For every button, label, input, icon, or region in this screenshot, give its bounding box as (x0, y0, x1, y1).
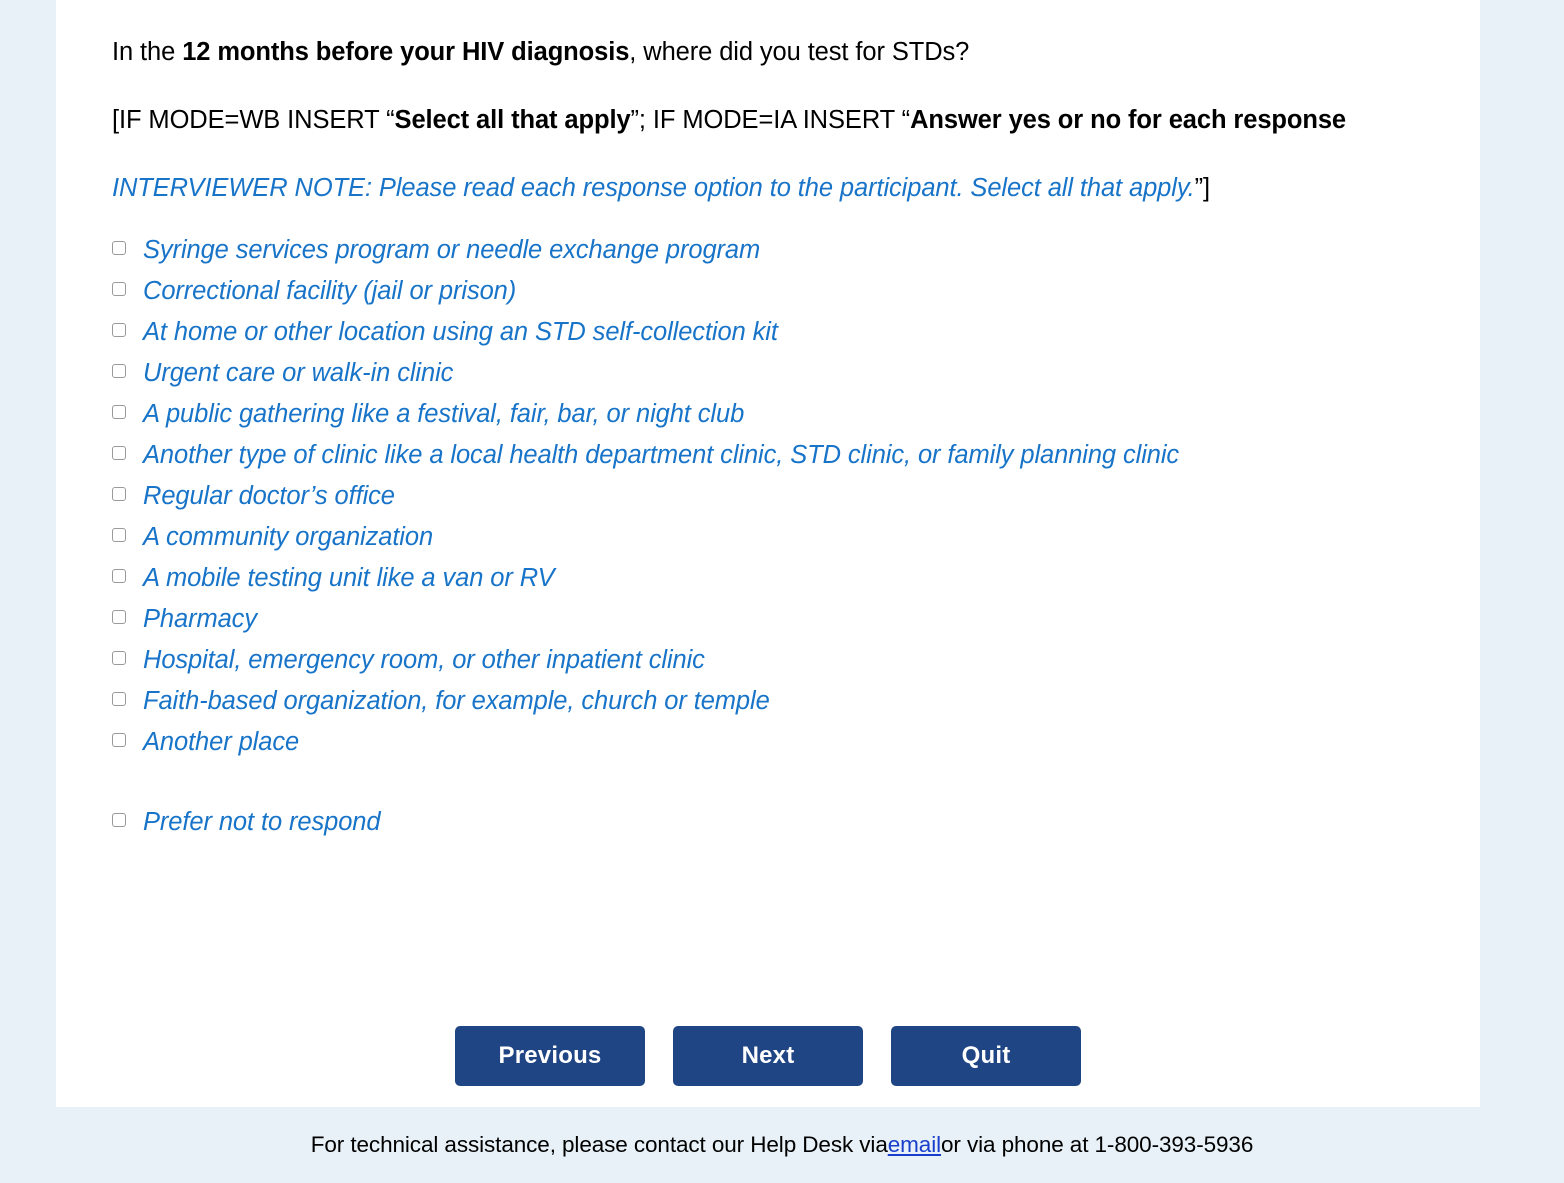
option-row[interactable]: Syringe services program or needle excha… (112, 230, 1440, 270)
question-prompt: In the 12 months before your HIV diagnos… (112, 32, 1440, 72)
mode-instruction-bold-ia: Answer yes or no for each response (910, 106, 1346, 134)
response-options-list: Syringe services program or needle excha… (112, 230, 1440, 842)
quit-button[interactable]: Quit (891, 1026, 1081, 1086)
option-row[interactable]: Another place (112, 722, 1440, 762)
checkbox-icon[interactable] (112, 487, 126, 501)
checkbox-icon[interactable] (112, 528, 126, 542)
checkbox-icon[interactable] (112, 241, 126, 255)
option-row[interactable]: Another type of clinic like a local heal… (112, 435, 1440, 475)
option-row[interactable]: A community organization (112, 517, 1440, 557)
footer-text-before-link: For technical assistance, please contact… (311, 1132, 888, 1158)
interviewer-note-tail: ”] (1195, 174, 1210, 202)
option-label[interactable]: Urgent care or walk-in clinic (126, 353, 1416, 393)
checkbox-icon[interactable] (112, 610, 126, 624)
mode-instruction-part2: ”; IF MODE=IA INSERT “ (631, 106, 911, 134)
checkbox-icon[interactable] (112, 692, 126, 706)
question-prefix: In the (112, 38, 182, 66)
mode-instruction: [IF MODE=WB INSERT “Select all that appl… (112, 100, 1440, 140)
footer-text-after-link: or via phone at 1-800-393-5936 (941, 1132, 1253, 1158)
previous-button[interactable]: Previous (455, 1026, 645, 1086)
option-row[interactable]: A public gathering like a festival, fair… (112, 394, 1440, 434)
option-row[interactable]: A mobile testing unit like a van or RV (112, 558, 1440, 598)
interviewer-note-text: INTERVIEWER NOTE: Please read each respo… (112, 174, 1195, 202)
checkbox-icon[interactable] (112, 569, 126, 583)
interviewer-note: INTERVIEWER NOTE: Please read each respo… (112, 168, 1440, 208)
option-label[interactable]: A public gathering like a festival, fair… (126, 394, 1416, 434)
option-label[interactable]: Regular doctor’s office (126, 476, 1416, 516)
checkbox-icon[interactable] (112, 405, 126, 419)
question-suffix: , where did you test for STDs? (629, 38, 969, 66)
option-row[interactable]: Prefer not to respond (112, 802, 1440, 842)
card-content: In the 12 months before your HIV diagnos… (56, 0, 1480, 842)
option-label[interactable]: Faith-based organization, for example, c… (126, 681, 1416, 721)
option-label[interactable]: Hospital, emergency room, or other inpat… (126, 640, 1416, 680)
option-label[interactable]: Correctional facility (jail or prison) (126, 271, 1416, 311)
option-row[interactable]: At home or other location using an STD s… (112, 312, 1440, 352)
option-label[interactable]: Another place (126, 722, 1416, 762)
navigation-button-bar: Previous Next Quit (56, 1026, 1480, 1086)
survey-question-card: In the 12 months before your HIV diagnos… (56, 0, 1480, 1107)
checkbox-icon[interactable] (112, 733, 126, 747)
question-text-block: In the 12 months before your HIV diagnos… (112, 32, 1440, 140)
option-label[interactable]: A community organization (126, 517, 1416, 557)
option-label[interactable]: Prefer not to respond (126, 802, 1416, 842)
next-button[interactable]: Next (673, 1026, 863, 1086)
question-emphasis: 12 months before your HIV diagnosis (182, 38, 629, 66)
option-label[interactable]: A mobile testing unit like a van or RV (126, 558, 1416, 598)
option-label[interactable]: Another type of clinic like a local heal… (126, 435, 1416, 475)
option-row[interactable]: Pharmacy (112, 599, 1440, 639)
help-desk-footer: For technical assistance, please contact… (0, 1107, 1564, 1183)
option-row[interactable]: Urgent care or walk-in clinic (112, 353, 1440, 393)
option-row[interactable]: Hospital, emergency room, or other inpat… (112, 640, 1440, 680)
option-label[interactable]: Syringe services program or needle excha… (126, 230, 1416, 270)
option-row[interactable]: Regular doctor’s office (112, 476, 1440, 516)
option-label[interactable]: Pharmacy (126, 599, 1416, 639)
checkbox-icon[interactable] (112, 813, 126, 827)
checkbox-icon[interactable] (112, 323, 126, 337)
checkbox-icon[interactable] (112, 651, 126, 665)
mode-instruction-bold-wb: Select all that apply (395, 106, 631, 134)
mode-instruction-part1: [IF MODE=WB INSERT “ (112, 106, 395, 134)
checkbox-icon[interactable] (112, 282, 126, 296)
option-row[interactable]: Faith-based organization, for example, c… (112, 681, 1440, 721)
option-label[interactable]: At home or other location using an STD s… (126, 312, 1416, 352)
option-row[interactable]: Correctional facility (jail or prison) (112, 271, 1440, 311)
checkbox-icon[interactable] (112, 446, 126, 460)
email-link[interactable]: email (888, 1132, 941, 1158)
checkbox-icon[interactable] (112, 364, 126, 378)
